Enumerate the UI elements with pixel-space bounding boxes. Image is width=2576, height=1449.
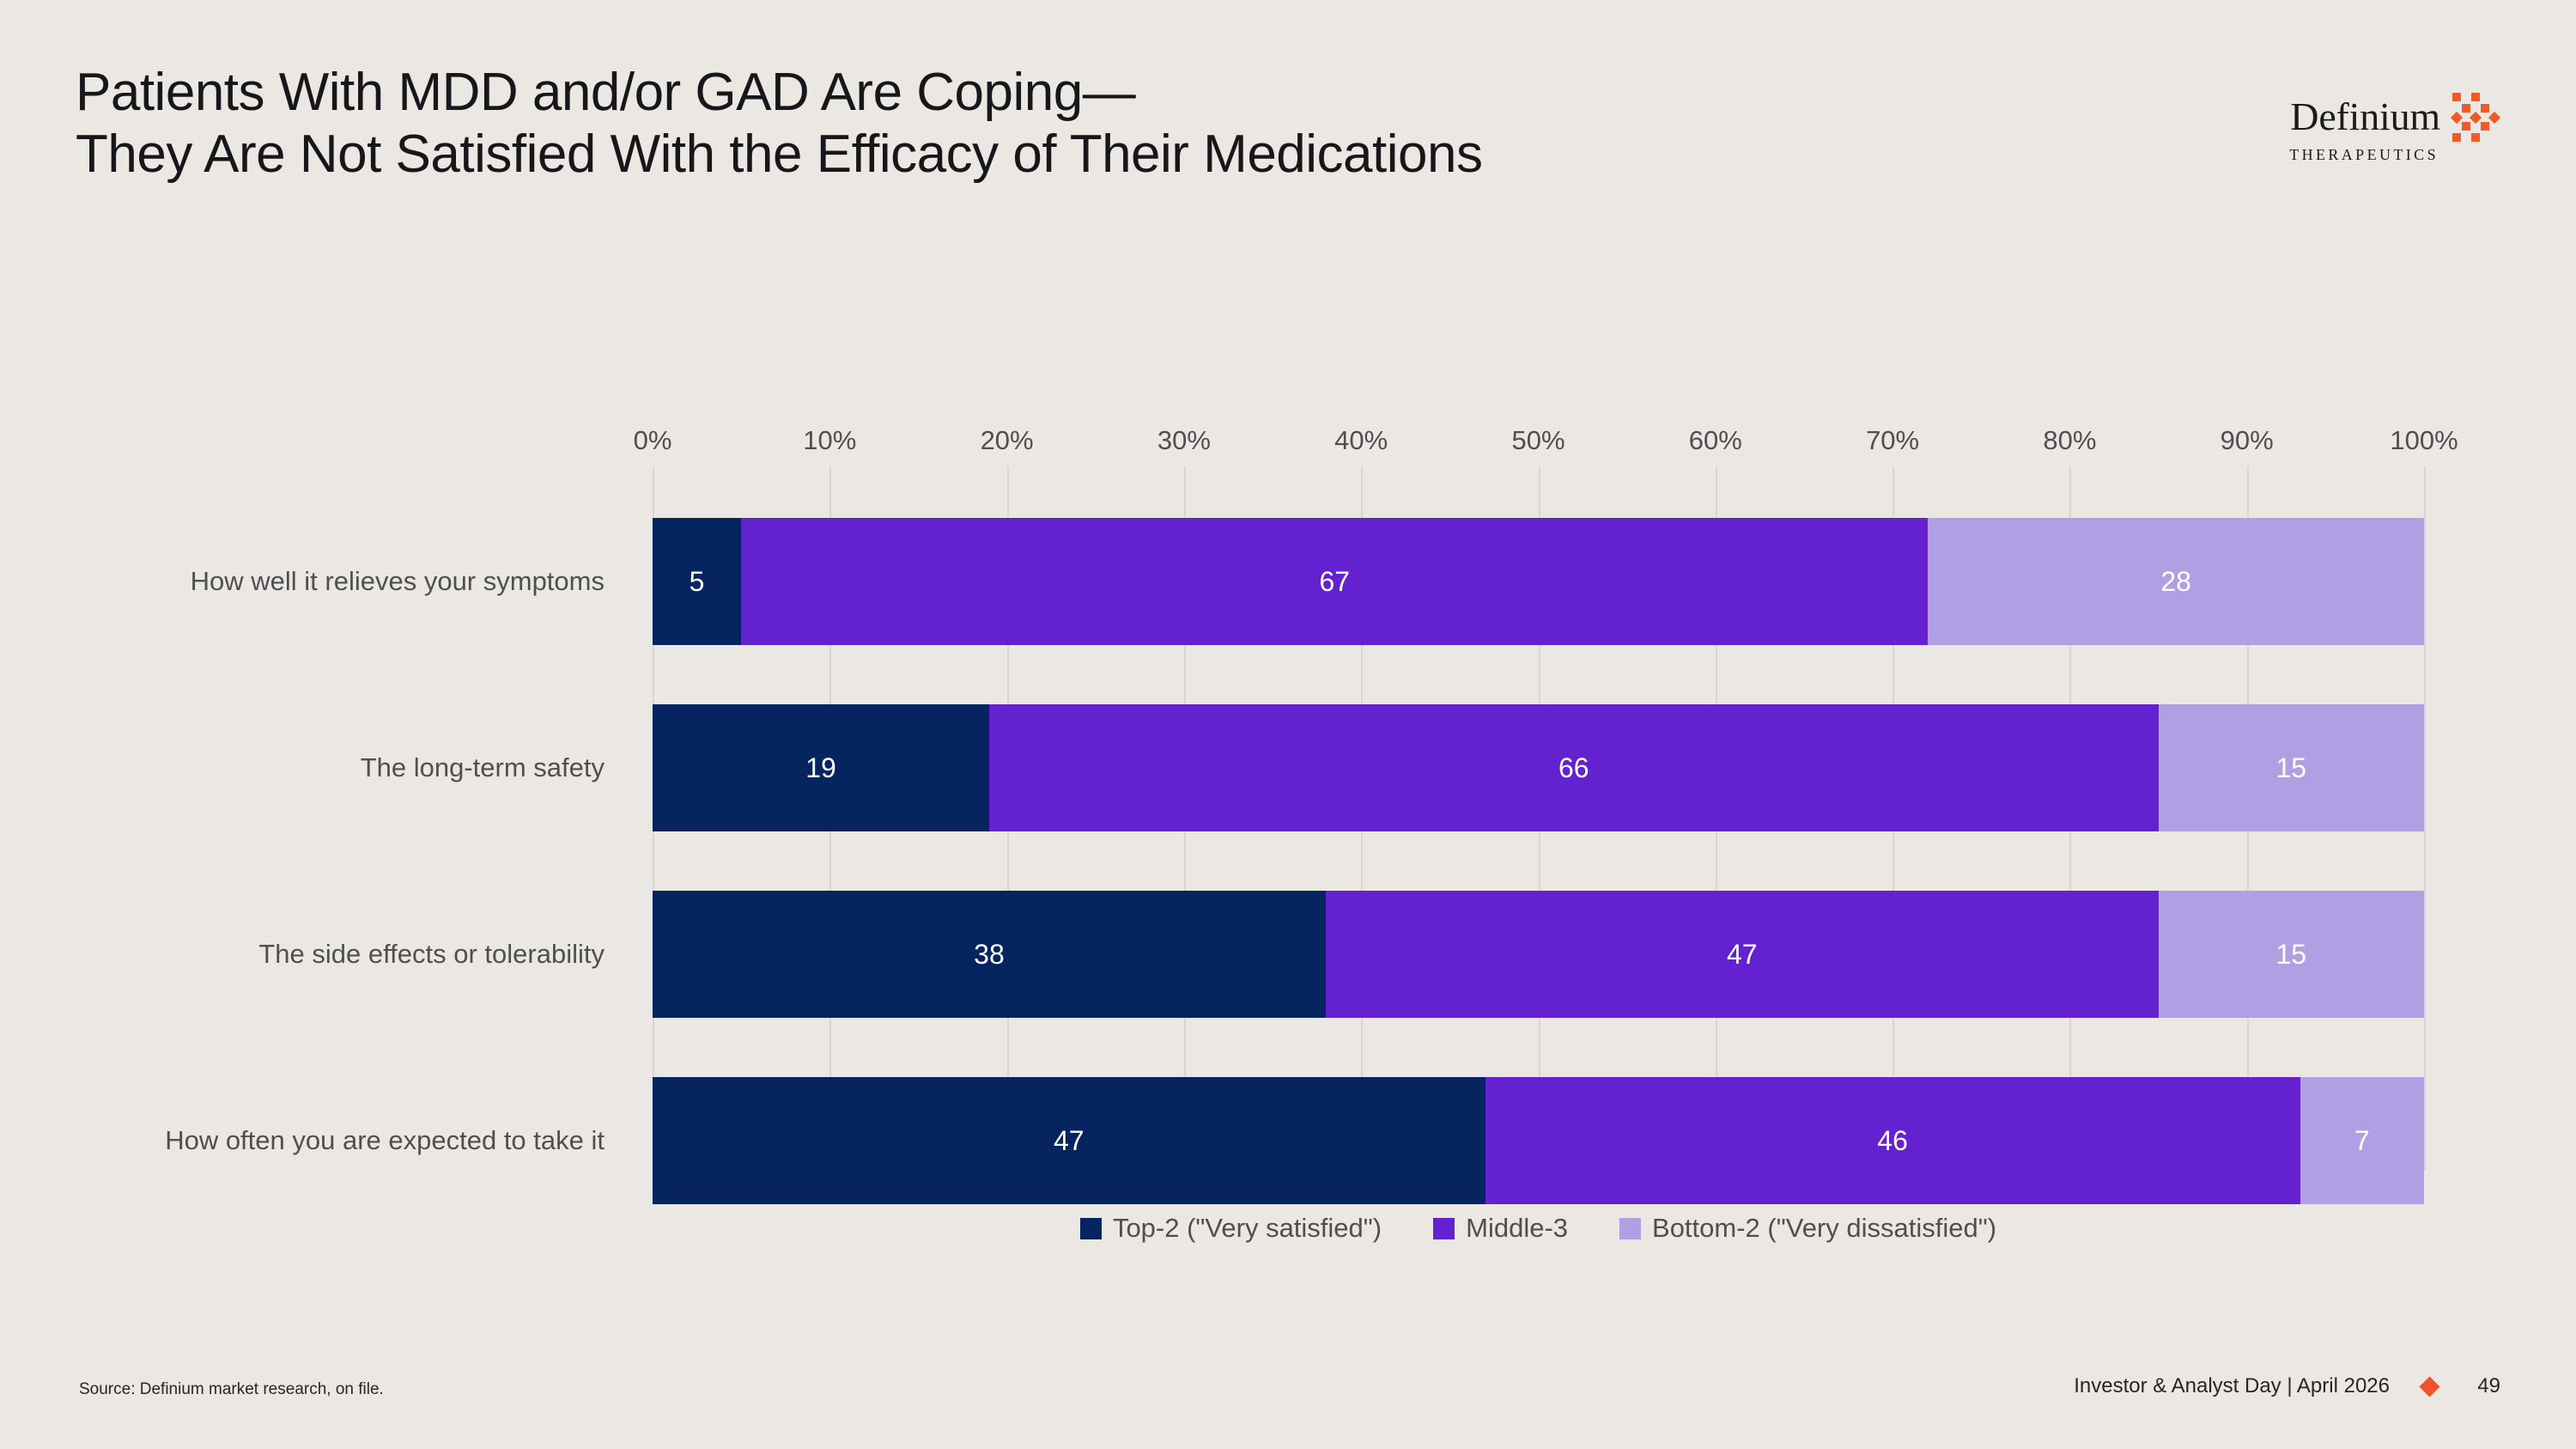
bar-segment-value-label: 15 [2275,752,2306,784]
diamond-icon [2419,1376,2439,1397]
bar-segment-value-label: 5 [690,566,705,598]
footer-meta: Investor & Analyst Day | April 2026 49 [2074,1374,2500,1398]
bar-segment-value-label: 7 [2354,1125,2370,1157]
page-number: 49 [2470,1374,2500,1398]
x-axis-tick-labels: 0%10%20%30%40%50%60%70%80%90%100% [653,425,2424,463]
bar-row[interactable]: 47467 [653,1077,2424,1204]
logo-dot-square [2462,122,2470,131]
x-axis-tick-label: 20% [981,425,1034,456]
bar-segment[interactable]: 47 [1326,891,2159,1018]
logo-dot-square [2452,93,2461,101]
y-axis-category-label: The side effects or tolerability [258,939,605,970]
bar-segment-value-label: 66 [1558,752,1589,784]
logo-dot-diamond [2451,112,2463,124]
brand-logo: Definium THERAPEUTICS [2234,93,2500,170]
bar-segment[interactable]: 46 [1485,1077,2300,1204]
chart-legend: Top-2 ("Very satisfied")Middle-3Bottom-2… [653,1213,2424,1244]
bar-row[interactable]: 56728 [653,518,2424,645]
slide-header: Patients With MDD and/or GAD Are Coping—… [0,0,2576,258]
bar-segment-value-label: 38 [974,939,1005,971]
logo-dot-diamond [2470,112,2482,124]
logo-dot-diamond [2488,112,2500,124]
footer-source-note: Source: Definium market research, on fil… [79,1380,384,1399]
page-title: Patients With MDD and/or GAD Are Coping—… [76,62,1483,186]
legend-item[interactable]: Middle-3 [1433,1213,1568,1244]
x-axis-tick-label: 70% [1866,425,1919,456]
bar-segment[interactable]: 15 [2159,704,2424,831]
bar-segment[interactable]: 5 [653,518,741,645]
legend-item-label: Top-2 ("Very satisfied") [1113,1213,1382,1244]
x-axis-tick-label: 0% [634,425,672,456]
bar-segment[interactable]: 66 [989,704,2159,831]
logo-subtitle-text: THERAPEUTICS [2234,146,2500,164]
y-axis-category-label: How often you are expected to take it [165,1125,605,1156]
bar-segment-value-label: 28 [2160,566,2191,598]
bar-segment[interactable]: 7 [2300,1077,2424,1204]
logo-wordmark-row: Definium [2234,93,2500,141]
x-axis-tick-label: 80% [2043,425,2096,456]
bar-segment-value-label: 67 [1319,566,1350,598]
bar-segment[interactable]: 19 [653,704,989,831]
logo-dot-square [2462,104,2470,113]
y-axis-category-labels: How well it relieves your symptomsThe lo… [0,518,627,1171]
bar-segment[interactable]: 28 [1928,518,2424,645]
legend-item[interactable]: Top-2 ("Very satisfied") [1080,1213,1382,1244]
bar-segment-value-label: 19 [805,752,836,784]
x-axis-tick-label: 100% [2390,425,2458,456]
y-axis-category-label: How well it relieves your symptoms [191,566,605,597]
bar-segment-value-label: 47 [1727,939,1758,971]
footer-event-label: Investor & Analyst Day | April 2026 [2074,1374,2390,1398]
logo-dot-square [2481,122,2489,131]
bar-segment-value-label: 15 [2275,939,2306,971]
logo-wordmark-text: Definium [2290,97,2440,137]
legend-color-swatch [1080,1218,1102,1239]
logo-dot-square [2452,133,2461,142]
legend-color-swatch [1433,1218,1455,1239]
x-axis-tick-label: 10% [803,425,856,456]
x-axis-tick-label: 50% [1511,425,1564,456]
bar-segment-value-label: 46 [1877,1125,1908,1157]
legend-item-label: Bottom-2 ("Very dissatisfied") [1652,1213,1996,1244]
bar-row[interactable]: 196615 [653,704,2424,831]
legend-item[interactable]: Bottom-2 ("Very dissatisfied") [1619,1213,1996,1244]
logo-dot-square [2471,93,2480,101]
stacked-bar-chart-plot: 5672819661538471547467 [653,518,2424,1171]
bar-segment[interactable]: 15 [2159,891,2424,1018]
bar-segment[interactable]: 38 [653,891,1326,1018]
legend-item-label: Middle-3 [1466,1213,1568,1244]
x-axis-tick-label: 40% [1334,425,1388,456]
bar-segment-value-label: 47 [1054,1125,1084,1157]
x-axis-tick-label: 30% [1157,425,1211,456]
gridline [2424,466,2426,1171]
bar-row[interactable]: 384715 [653,891,2424,1018]
logo-dot-square [2481,104,2489,113]
y-axis-category-label: The long-term safety [361,752,605,783]
bar-segment[interactable]: 47 [653,1077,1485,1204]
x-axis-tick-label: 90% [2221,425,2274,456]
logo-dot-pattern-icon [2452,93,2500,141]
x-axis-tick-label: 60% [1689,425,1742,456]
legend-color-swatch [1619,1218,1641,1239]
bar-segment[interactable]: 67 [741,518,1928,645]
logo-dot-square [2471,133,2480,142]
